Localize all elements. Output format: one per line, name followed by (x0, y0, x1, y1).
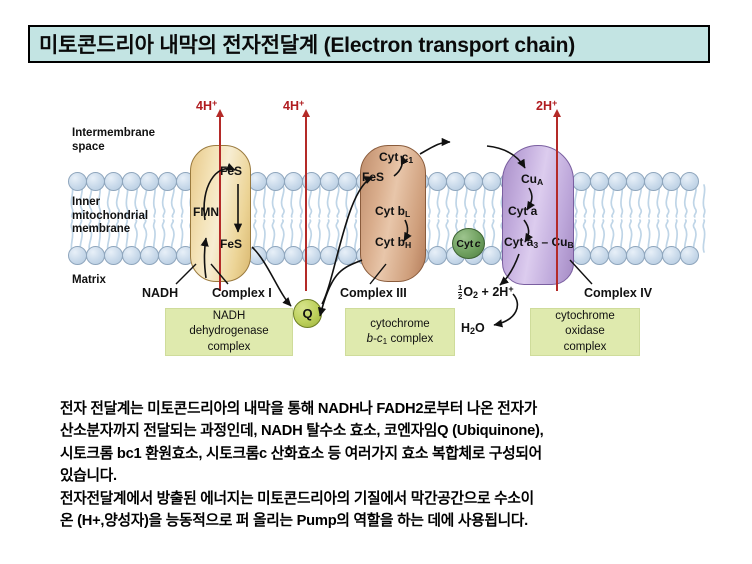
etc-diagram: Intermembrane space Inner mitochondrial … (0, 92, 752, 367)
lipid-head (68, 172, 87, 191)
label-fes-complex3: FeS (362, 170, 384, 184)
label-complex-iv: Complex IV (584, 286, 652, 301)
lipid-head (338, 246, 357, 265)
label-fes-upper: FeS (220, 164, 242, 178)
description-line-5: 전자전달계에서 방출된 에너지는 미토콘드리아의 기질에서 막간공간으로 수소이 (60, 488, 750, 510)
lipid-head (428, 246, 447, 265)
lipid-head (662, 246, 681, 265)
caption-cytochrome-oxidase-complex: cytochrome oxidase complex (530, 308, 640, 356)
label-inner-mitochondrial-membrane: Inner mitochondrial membrane (72, 196, 148, 237)
proton-label-complex-iv: 2H+ (536, 98, 557, 113)
label-oxygen-reaction: 12O2 + 2H+ (458, 284, 514, 301)
lipid-head (428, 172, 447, 191)
lipid-head (266, 172, 285, 191)
lipid-head (122, 246, 141, 265)
lipid-head (320, 172, 339, 191)
label-intermembrane-space: Intermembrane space (72, 127, 155, 154)
lipid-head (86, 172, 105, 191)
page-title-text: 미토콘드리아 내막의 전자전달계 (Electron transport cha… (30, 29, 575, 59)
proton-label-complex-iii: 4H+ (283, 98, 304, 113)
lipid-head (644, 172, 663, 191)
label-complex-i: Complex I (212, 286, 272, 301)
lipid-head (158, 172, 177, 191)
lipid-head (140, 172, 159, 191)
description-line-6: 온 (H+,양성자)을 능동적으로 퍼 올리는 Pump의 역할을 하는 데에 … (60, 510, 750, 532)
lipid-head (104, 172, 123, 191)
label-nadh: NADH (142, 286, 178, 301)
lipid-head (608, 246, 627, 265)
lipid-head (572, 246, 591, 265)
lipid-head (482, 172, 501, 191)
lipid-head (626, 246, 645, 265)
label-water: H2O (461, 321, 485, 337)
cytochrome-c-carrier: Cytc (452, 228, 485, 259)
lipid-head (284, 246, 303, 265)
proton-arrow-complex-iv (556, 116, 558, 291)
description-text: 전자 전달계는 미토콘드리아의 내막을 통해 NADH나 FADH2로부터 나온… (60, 398, 750, 533)
lipid-head (86, 246, 105, 265)
lipid-head (68, 246, 87, 265)
label-cyt-bh: Cyt bH (375, 235, 411, 250)
lipid-head (608, 172, 627, 191)
lipid-head (572, 172, 591, 191)
lipid-head (104, 246, 123, 265)
lipid-head (680, 246, 699, 265)
lipid-head (338, 172, 357, 191)
label-cyt-bl: Cyt bL (375, 204, 410, 219)
lipid-head (284, 172, 303, 191)
label-cu-a: CuA (521, 172, 543, 187)
page-title: 미토콘드리아 내막의 전자전달계 (Electron transport cha… (28, 25, 710, 63)
proton-arrow-complex-iii (305, 116, 307, 291)
lipid-head (158, 246, 177, 265)
description-line-1: 전자 전달계는 미토콘드리아의 내막을 통해 NADH나 FADH2로부터 나온… (60, 398, 750, 420)
lipid-head (590, 172, 609, 191)
label-complex-iii: Complex III (340, 286, 407, 301)
label-fmn: FMN (193, 205, 219, 219)
description-line-4: 있습니다. (60, 465, 750, 487)
label-matrix: Matrix (72, 274, 106, 288)
description-line-2: 산소분자까지 전달되는 과정인데, NADH 탈수소 효소, 코엔자임Q (Ub… (60, 420, 750, 442)
lipid-head (626, 172, 645, 191)
lipid-head (662, 172, 681, 191)
label-fes-lower: FeS (220, 237, 242, 251)
label-cyt-a3-cu-b: Cyt a3 – CuB (504, 235, 574, 250)
lipid-head (680, 172, 699, 191)
label-cyt-a: Cyt a (508, 204, 537, 218)
lipid-head (122, 172, 141, 191)
slide-root: 미토콘드리아 내막의 전자전달계 (Electron transport cha… (0, 0, 752, 564)
proton-arrow-complex-i (219, 116, 221, 291)
lipid-head (482, 246, 501, 265)
lipid-head (266, 246, 285, 265)
lipid-head (446, 172, 465, 191)
proton-label-complex-i: 4H+ (196, 98, 217, 113)
lipid-head (140, 246, 159, 265)
caption-nadh-dehydrogenase-complex: NADH dehydrogenase complex (165, 308, 293, 356)
lipid-head (644, 246, 663, 265)
lipid-head (590, 246, 609, 265)
caption-cytochrome-bc1-complex: cytochrome b-c1 complex (345, 308, 455, 356)
lipid-head (464, 172, 483, 191)
ubiquinone-q-carrier: Q (293, 299, 322, 328)
label-cyt-c1: Cyt c1 (379, 150, 413, 165)
lipid-head (320, 246, 339, 265)
description-line-3: 시토크롬 bc1 환원효소, 시토크롬c 산화효소 등 여러가지 효소 복합체로… (60, 443, 750, 465)
